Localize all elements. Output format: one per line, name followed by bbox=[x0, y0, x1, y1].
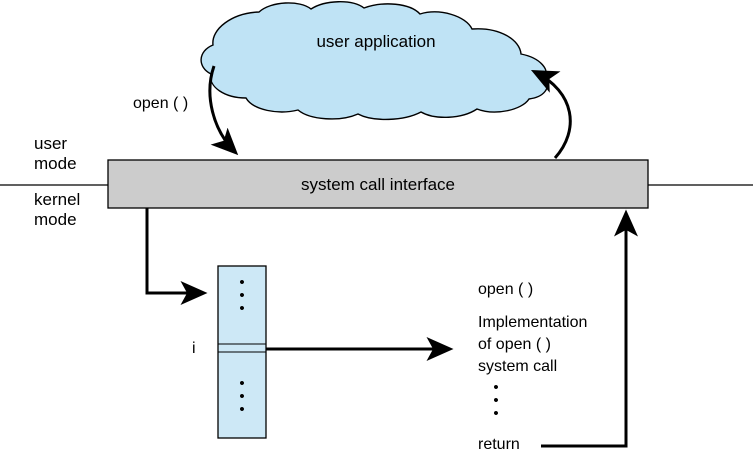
implementation-line-2: of open ( ) bbox=[478, 336, 551, 355]
open-call-label-user: open ( ) bbox=[133, 95, 188, 114]
diagram-vector-layer bbox=[0, 0, 753, 462]
user-application-cloud bbox=[201, 2, 547, 120]
user-mode-label-line1: user bbox=[34, 134, 67, 154]
table-dots-bottom: • • • bbox=[235, 378, 249, 416]
bar-to-table-arrow bbox=[147, 208, 203, 293]
implementation-line-1: Implementation bbox=[478, 314, 587, 333]
implementation-vertical-dots: • • • bbox=[489, 382, 503, 420]
table-dots-top: • • • bbox=[235, 277, 249, 315]
implementation-line-3: system call bbox=[478, 358, 557, 377]
return-label: return bbox=[478, 436, 520, 455]
user-mode-label-line2: mode bbox=[34, 154, 77, 174]
kernel-mode-label-line1: kernel bbox=[34, 190, 80, 210]
system-call-interface-label: system call interface bbox=[108, 175, 648, 195]
kernel-mode-label-line2: mode bbox=[34, 210, 77, 230]
cloud-label: user application bbox=[226, 32, 526, 52]
open-call-label-kernel: open ( ) bbox=[478, 281, 533, 300]
diagram-canvas: user application system call interface u… bbox=[0, 0, 753, 462]
table-index-label: i bbox=[192, 340, 196, 359]
